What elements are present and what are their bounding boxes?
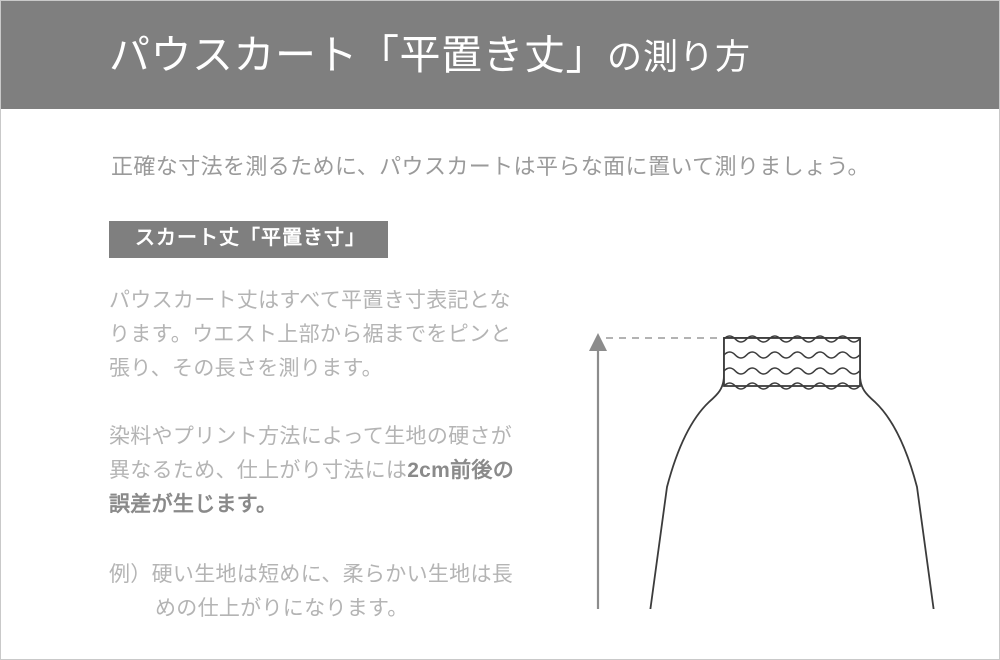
section-badge: スカート丈「平置き寸」 — [109, 221, 388, 258]
paragraph-tolerance: 染料やプリント方法によって生地の硬さが異なるため、仕上がり寸法には2cm前後の誤… — [109, 420, 529, 522]
infographic-page: パウスカート「平置き丈」の測り方 正確な寸法を測るために、パウスカートは平らな面… — [0, 0, 1000, 660]
content-area: 正確な寸法を測るために、パウスカートは平らな面に置いて測りましょう。 スカート丈… — [1, 109, 1000, 660]
page-title-sub: の測り方 — [607, 38, 751, 77]
page-title-main: パウスカート「平置き丈」 — [109, 32, 607, 78]
header-band: パウスカート「平置き丈」の測り方 — [1, 1, 1000, 109]
skirt-diagram — [561, 209, 981, 609]
waistband-rect — [724, 338, 860, 386]
lead-text: 正確な寸法を測るために、パウスカートは平らな面に置いて測りましょう。 — [111, 149, 870, 181]
skirt-diagram-svg — [561, 209, 981, 609]
page-title: パウスカート「平置き丈」の測り方 — [109, 35, 751, 76]
measure-arrow-head-up — [589, 333, 607, 351]
left-column: スカート丈「平置き寸」 パウスカート丈はすべて平置き寸表記となります。ウエスト上… — [109, 221, 529, 625]
paragraph-flat-measure: パウスカート丈はすべて平置き寸表記となります。ウエスト上部から裾までをピンと張り… — [109, 284, 529, 386]
example-note: 例）硬い生地は短めに、柔らかい生地は長めの仕上がりになります。 — [109, 558, 529, 625]
